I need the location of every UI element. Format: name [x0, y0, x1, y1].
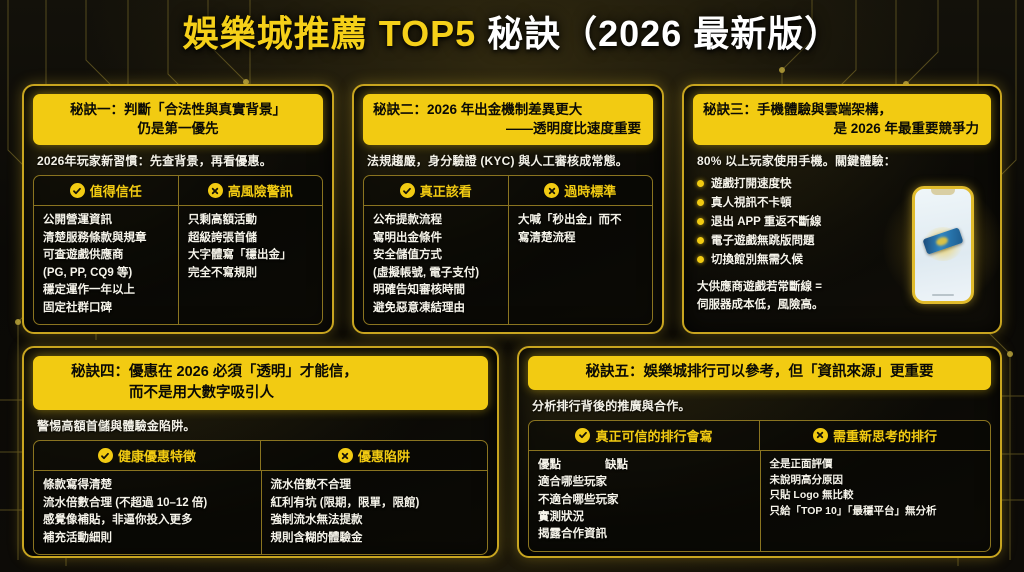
card-4-header-line-2: 而不是用大數字吸引人 [43, 383, 478, 404]
list-item: 清楚服務條款與規章 [43, 230, 173, 247]
list-item: 大字體寫「穩出金」 [188, 247, 317, 264]
card-2-table-body: 公布提款流程 寫明出金條件 安全儲值方式 (虛擬帳號, 電子支付) 明確告知審核… [364, 206, 652, 324]
check-circle-icon [98, 448, 113, 463]
card-2-banner: 秘訣二：2026 年出金機制差異更大 ——透明度比速度重要 [363, 94, 653, 145]
card-5-compare-table: 真正可信的排行會寫 需重新思考的排行 優點缺點 適合哪些玩家 不適合哪些玩家 實… [528, 420, 991, 552]
list-item: 完全不寫規則 [188, 265, 317, 282]
card-2-compare-table: 真正該看 過時標準 公布提款流程 寫明出金條件 安全儲值方式 (虛擬帳號, 電子… [363, 175, 653, 325]
list-item: 公開營運資訊 [43, 212, 173, 229]
card-4-compare-table: 健康優惠特徵 優惠陷阱 條款寫得清楚 流水倍數合理 (不超過 10–12 倍) … [33, 440, 488, 555]
smartphone-icon [912, 186, 974, 304]
x-circle-icon [208, 183, 223, 198]
card-4-good-list: 條款寫得清楚 流水倍數合理 (不超過 10–12 倍) 感覺像補貼，非逼你投入更… [34, 471, 261, 554]
bullet-label: 電子遊戲無跳版問題 [711, 232, 815, 248]
card-4-subtitle: 警惕高額首儲與體驗金陷阱。 [37, 417, 488, 434]
card-5-bad-list: 全是正面評價 未說明高分原因 只貼 Logo 無比較 只給「TOP 10」「最穩… [760, 451, 991, 551]
card-1-table-head: 值得信任 高風險警訊 [34, 176, 322, 206]
card-1-table-body: 公開營運資訊 清楚服務條款與規章 可查遊戲供應商 (PG, PP, CQ9 等)… [34, 206, 322, 324]
tip-card-5: 秘訣五：娛樂城排行可以參考，但「資訊來源」更重要 分析排行背後的推廣與合作。 真… [517, 346, 1002, 558]
list-item: 寫清楚流程 [518, 230, 647, 247]
card-1-subtitle: 2026年玩家新習慣：先查背景，再看優惠。 [37, 152, 323, 169]
bullet-label: 遊戲打開速度快 [711, 175, 792, 191]
list-item: 超級誇張首儲 [188, 230, 317, 247]
list-item: 流水倍數不合理 [271, 477, 483, 494]
card-1-good-header: 值得信任 [34, 176, 178, 205]
infographic-page: 娛樂城推薦 TOP5 秘訣（2026 最新版） 秘訣一：判斷「合法性與真實背景」… [0, 0, 1024, 572]
list-item: 紅利有坑 (限期，限單，限館) [271, 495, 483, 512]
page-title: 娛樂城推薦 TOP5 秘訣（2026 最新版） [0, 14, 1024, 54]
list-item: 穩定運作一年以上 [43, 282, 173, 299]
x-circle-icon [544, 183, 559, 198]
card-5-subtitle: 分析排行背後的推廣與合作。 [532, 397, 991, 414]
card-2-bad-header-label: 過時標準 [564, 181, 616, 200]
card-3-note: 大供應商遊戲若常斷線 = 伺服器成本低，風險高。 [697, 279, 891, 314]
card-2-good-header: 真正該看 [364, 176, 508, 205]
title-highlight: 娛樂城推薦 TOP5 [183, 13, 476, 54]
list-item: 大喊「秒出金」而不 [518, 212, 647, 229]
card-4-banner: 秘訣四：優惠在 2026 必須「透明」才能信， 而不是用大數字吸引人 [33, 356, 488, 410]
card-1-good-list: 公開營運資訊 清楚服務條款與規章 可查遊戲供應商 (PG, PP, CQ9 等)… [34, 206, 178, 324]
bullet-label: 真人視訊不卡頓 [711, 194, 792, 210]
list-item: 不適合哪些玩家 [538, 492, 755, 509]
card-2-good-list: 公布提款流程 寫明出金條件 安全儲值方式 (虛擬帳號, 電子支付) 明確告知審核… [364, 206, 508, 324]
card-4-good-header: 健康優惠特徵 [34, 441, 260, 470]
list-item: 退出 APP 重返不斷線 [697, 213, 891, 229]
list-item: (虛擬帳號, 電子支付) [373, 265, 503, 282]
list-item: 揭露合作資訊 [538, 526, 755, 543]
bullet-dot-icon [697, 218, 704, 225]
card-5-bad-header-label: 需重新思考的排行 [833, 426, 937, 445]
card-2-table-head: 真正該看 過時標準 [364, 176, 652, 206]
card-2-subtitle: 法規趨嚴，身分驗證 (KYC) 與人工審核成常態。 [367, 152, 653, 169]
smartphone-illustration [895, 175, 991, 314]
card-2-bad-header: 過時標準 [508, 176, 653, 205]
tip-card-4: 秘訣四：優惠在 2026 必須「透明」才能信， 而不是用大數字吸引人 警惕高額首… [22, 346, 499, 558]
card-5-good-header-label: 真正可信的排行會寫 [595, 426, 712, 445]
card-4-bad-header: 優惠陷阱 [260, 441, 487, 470]
bullet-dot-icon [697, 256, 704, 263]
pros-label: 優點 [538, 459, 561, 471]
list-item: 真人視訊不卡頓 [697, 194, 891, 210]
card-5-good-header: 真正可信的排行會寫 [529, 421, 759, 450]
card-1-bad-header-label: 高風險警訊 [228, 181, 293, 200]
card-5-table-head: 真正可信的排行會寫 需重新思考的排行 [529, 421, 990, 451]
card-2-header-line-1: 秘訣二：2026 年出金機制差異更大 [373, 100, 643, 119]
list-item: 切換館別無需久候 [697, 251, 891, 267]
list-item: 電子遊戲無跳版問題 [697, 232, 891, 248]
card-1-bad-list: 只剩高額活動 超級誇張首儲 大字體寫「穩出金」 完全不寫規則 [178, 206, 322, 324]
list-item: 強制流水無法提款 [271, 512, 483, 529]
card-3-header-line-1: 秘訣三：手機體驗與雲端架構， [703, 100, 981, 119]
list-item-pair: 優點缺點 [538, 457, 755, 474]
phone-notch [931, 189, 955, 195]
list-item: 只剩高額活動 [188, 212, 317, 229]
card-1-good-header-label: 值得信任 [90, 181, 142, 200]
card-1-compare-table: 值得信任 高風險警訊 公開營運資訊 清楚服務條款與規章 可查遊戲供應商 (PG,… [33, 175, 323, 325]
list-item: 寫明出金條件 [373, 230, 503, 247]
card-5-good-list: 優點缺點 適合哪些玩家 不適合哪些玩家 實測狀況 揭露合作資訊 [529, 451, 760, 551]
card-4-bad-header-label: 優惠陷阱 [358, 446, 410, 465]
card-1-header-line-2: 仍是第一優先 [43, 119, 313, 138]
card-4-bad-list: 流水倍數不合理 紅利有坑 (限期，限單，限館) 強制流水無法提款 規則含糊的體驗… [261, 471, 488, 554]
card-1-bad-header: 高風險警訊 [178, 176, 323, 205]
bullet-label: 切換館別無需久候 [711, 251, 803, 267]
x-circle-icon [813, 428, 828, 443]
list-item: 規則含糊的體驗金 [271, 530, 483, 547]
card-4-table-body: 條款寫得清楚 流水倍數合理 (不超過 10–12 倍) 感覺像補貼，非逼你投入更… [34, 471, 487, 554]
x-circle-icon [338, 448, 353, 463]
check-circle-icon [400, 183, 415, 198]
list-item: 避免惡意凍結理由 [373, 300, 503, 317]
card-3-note-line-2: 伺服器成本低，風險高。 [697, 297, 891, 314]
list-item: 只貼 Logo 無比較 [770, 488, 986, 504]
list-item: 全是正面評價 [770, 457, 986, 473]
card-3-header-line-2: 是 2026 年最重要競爭力 [703, 119, 981, 138]
list-item: 固定社群口碑 [43, 300, 173, 317]
bullet-dot-icon [697, 199, 704, 206]
list-item: (PG, PP, CQ9 等) [43, 265, 173, 282]
list-item: 感覺像補貼，非逼你投入更多 [43, 512, 256, 529]
card-4-table-head: 健康優惠特徵 優惠陷阱 [34, 441, 487, 471]
card-5-banner: 秘訣五：娛樂城排行可以參考，但「資訊來源」更重要 [528, 356, 991, 390]
card-3-subtitle: 80% 以上玩家使用手機。關鍵體驗： [697, 152, 991, 169]
card-3-body: 遊戲打開速度快 真人視訊不卡頓 退出 APP 重返不斷線 電子遊戲無跳版問題 切… [693, 175, 991, 314]
tip-card-3: 秘訣三：手機體驗與雲端架構， 是 2026 年最重要競爭力 80% 以上玩家使用… [682, 84, 1002, 334]
cons-label: 缺點 [605, 459, 628, 471]
card-3-banner: 秘訣三：手機體驗與雲端架構， 是 2026 年最重要競爭力 [693, 94, 991, 145]
card-2-bad-list: 大喊「秒出金」而不 寫清楚流程 [508, 206, 652, 324]
card-3-note-line-1: 大供應商遊戲若常斷線 = [697, 279, 891, 296]
list-item: 只給「TOP 10」「最穩平台」無分析 [770, 504, 986, 520]
list-item: 遊戲打開速度快 [697, 175, 891, 191]
card-5-table-body: 優點缺點 適合哪些玩家 不適合哪些玩家 實測狀況 揭露合作資訊 全是正面評價 未… [529, 451, 990, 551]
bullet-dot-icon [697, 180, 704, 187]
list-item: 公布提款流程 [373, 212, 503, 229]
list-item: 適合哪些玩家 [538, 474, 755, 491]
card-4-good-header-label: 健康優惠特徵 [118, 446, 196, 465]
tip-card-1: 秘訣一：判斷「合法性與真實背景」 仍是第一優先 2026年玩家新習慣：先查背景，… [22, 84, 334, 334]
card-1-banner: 秘訣一：判斷「合法性與真實背景」 仍是第一優先 [33, 94, 323, 145]
list-item: 安全儲值方式 [373, 247, 503, 264]
list-item: 補充活動細則 [43, 530, 256, 547]
check-circle-icon [575, 428, 590, 443]
phone-home-indicator [932, 294, 954, 296]
card-5-header-line-1: 秘訣五：娛樂城排行可以參考，但「資訊來源」更重要 [538, 362, 981, 383]
card-2-good-header-label: 真正該看 [420, 181, 472, 200]
list-item: 未說明高分原因 [770, 473, 986, 489]
card-1-header-line-1: 秘訣一：判斷「合法性與真實背景」 [43, 100, 313, 119]
bullet-label: 退出 APP 重返不斷線 [711, 213, 821, 229]
list-item: 可查遊戲供應商 [43, 247, 173, 264]
check-circle-icon [70, 183, 85, 198]
list-item: 條款寫得清楚 [43, 477, 256, 494]
card-2-header-line-2: ——透明度比速度重要 [373, 119, 643, 138]
list-item: 實測狀況 [538, 509, 755, 526]
list-item: 明確告知審核時間 [373, 282, 503, 299]
bullet-dot-icon [697, 237, 704, 244]
list-item: 流水倍數合理 (不超過 10–12 倍) [43, 495, 256, 512]
card-3-bullet-list: 遊戲打開速度快 真人視訊不卡頓 退出 APP 重返不斷線 電子遊戲無跳版問題 切… [693, 175, 891, 314]
title-rest: 秘訣（2026 最新版） [476, 13, 841, 54]
card-4-header-line-1: 秘訣四：優惠在 2026 必須「透明」才能信， [43, 362, 478, 383]
card-5-bad-header: 需重新思考的排行 [759, 421, 990, 450]
tip-card-2: 秘訣二：2026 年出金機制差異更大 ——透明度比速度重要 法規趨嚴，身分驗證 … [352, 84, 664, 334]
